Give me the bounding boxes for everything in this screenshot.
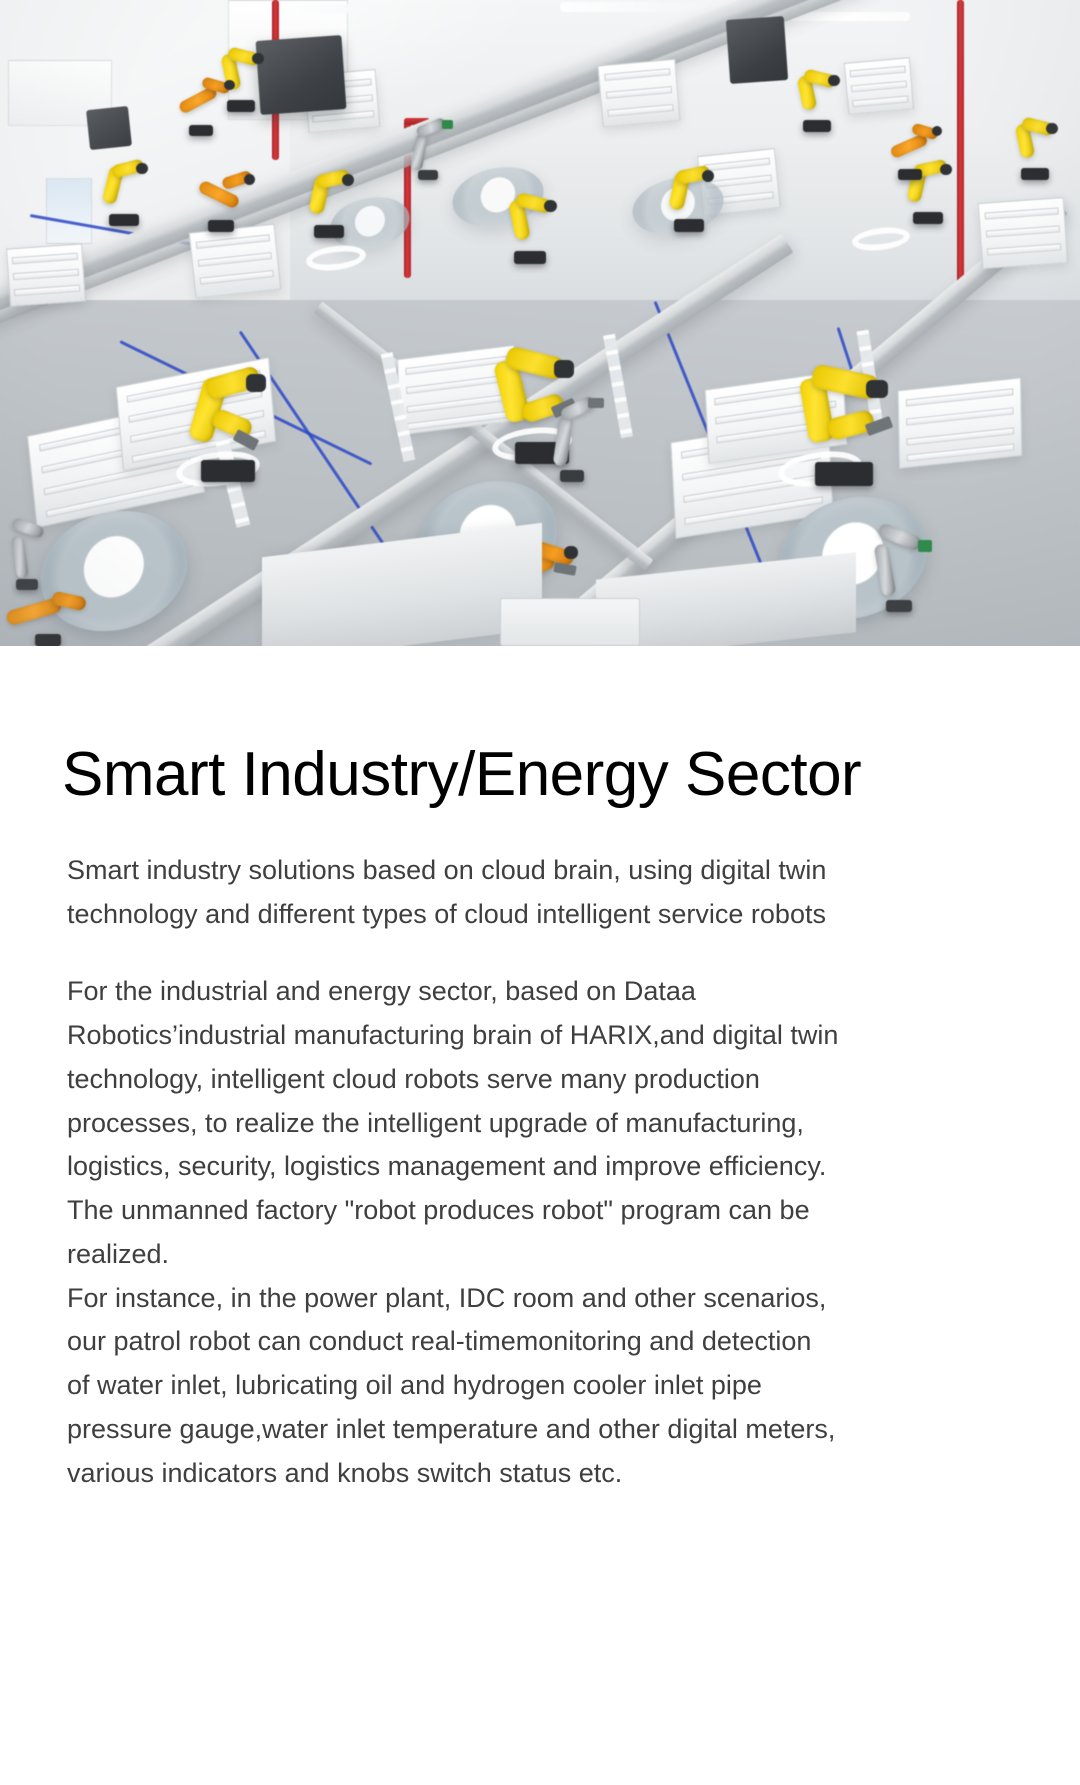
red-pipe [957,0,964,300]
factory-scene-background [0,0,1080,646]
machine-cabinet [86,106,132,150]
work-surface [500,598,640,646]
article-paragraph: For the industrial and energy sector, ba… [67,970,840,1495]
storage-rack [597,59,680,128]
robot-arm-yellow [500,196,560,264]
robot-arm-yellow [660,168,718,232]
robot-base-marking [852,225,910,253]
article-lede: Smart industry solutions based on cloud … [67,849,840,936]
storage-rack [978,197,1068,269]
ceiling-light [262,4,382,13]
robot-arm-yellow [96,162,152,226]
robot-arm-orange [168,78,234,136]
storage-rack [6,243,86,306]
robot-arm-gray [400,120,456,180]
robot-arm-yellow [790,72,844,132]
robot-arm-yellow [790,368,898,486]
robot-arm-orange [880,124,940,180]
hero-image [0,0,1080,646]
robot-arm-yellow [180,372,276,482]
robot-arm-gray [860,526,938,612]
storage-rack [898,377,1023,468]
robot-arm-yellow [1008,120,1062,180]
article-content: Smart Industry/Energy Sector Smart indus… [0,646,1080,1495]
robot-arm-orange [186,170,256,232]
robot-arm-gray [0,520,54,590]
page-title: Smart Industry/Energy Sector [0,646,1080,809]
storage-rack [844,57,914,115]
robot-arm-gray [540,398,604,482]
storage-rack [189,224,281,299]
article-body: Smart industry solutions based on cloud … [0,849,840,1495]
robot-base-marking [306,243,367,273]
ceiling-light [560,2,710,12]
robot-arm-orange [0,590,96,646]
robot-arm-yellow [300,172,358,238]
machine-cabinet [256,35,347,115]
machine-cabinet [726,16,788,84]
wall-sign [46,178,92,244]
ceiling-light [790,12,910,21]
